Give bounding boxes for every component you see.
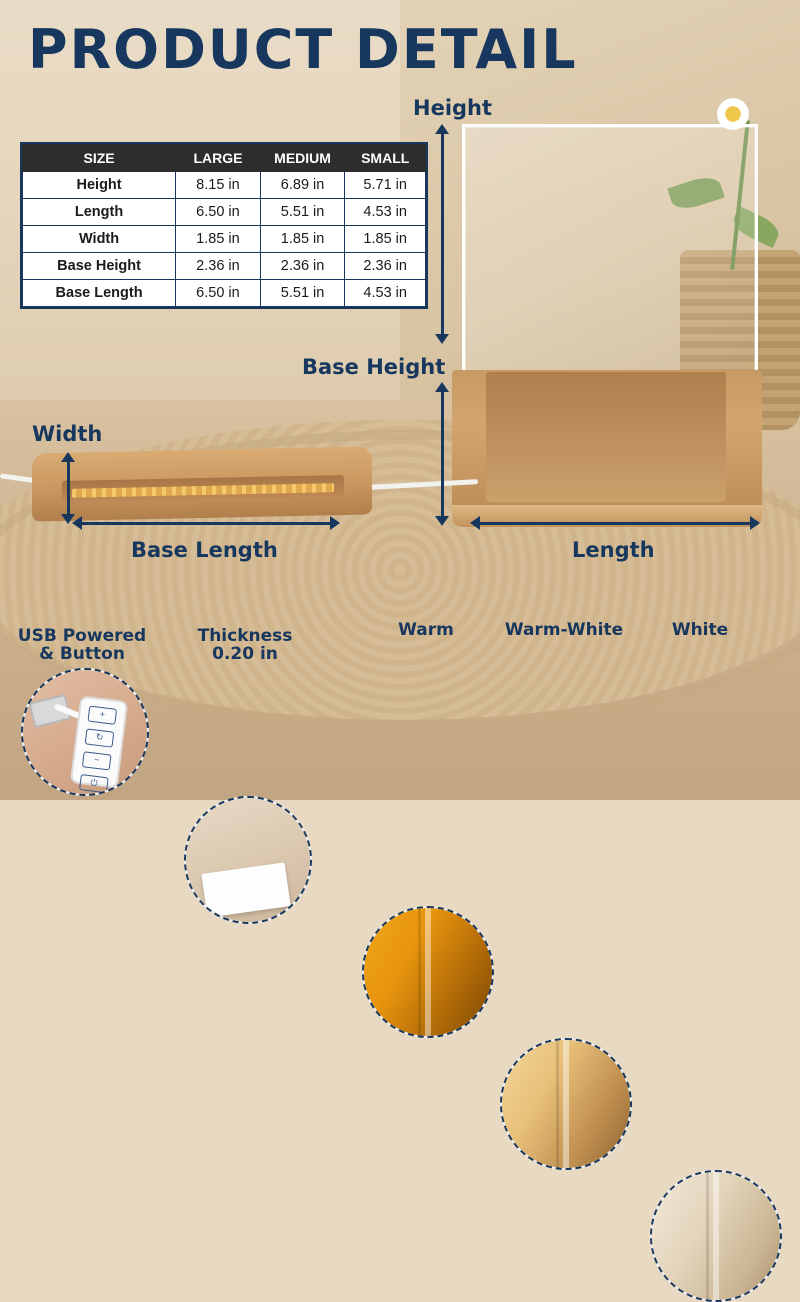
panel-edge-highlight <box>425 908 431 1036</box>
row-label: Base Height <box>23 253 176 280</box>
feature-warm-label: Warm <box>398 620 454 640</box>
dimension-label-length: Length <box>572 538 655 562</box>
arrow-head-right-icon <box>330 516 340 530</box>
arrow-line <box>478 522 752 525</box>
dimension-label-base-length: Base Length <box>131 538 278 562</box>
arrow-line <box>441 390 444 518</box>
table-row: Base Length 6.50 in 5.51 in 4.53 in <box>23 280 426 307</box>
feature-thickness-value: 0.20 in <box>212 644 278 664</box>
row-label: Width <box>23 226 176 253</box>
table-col-size: SIZE <box>23 145 176 172</box>
cell-small: 2.36 in <box>345 253 426 280</box>
table-row: Length 6.50 in 5.51 in 4.53 in <box>23 199 426 226</box>
thickness-photo-background <box>186 798 310 922</box>
wooden-stand-base-inner <box>486 372 726 502</box>
cell-large: 6.50 in <box>176 199 261 226</box>
cell-medium: 1.85 in <box>260 226 345 253</box>
feature-usb-powered: USB Powered & Button <box>14 628 150 664</box>
table-col-small: SMALL <box>345 145 426 172</box>
arrow-head-down-icon <box>435 334 449 344</box>
arrow-line <box>80 522 332 525</box>
feature-warm: Warm <box>362 622 490 640</box>
cell-large: 6.50 in <box>176 280 261 307</box>
dimension-arrow-height <box>431 124 453 344</box>
table-header-row: SIZE LARGE MEDIUM SMALL <box>23 145 426 172</box>
table-col-medium: MEDIUM <box>260 145 345 172</box>
dimension-label-base-height: Base Height <box>302 355 445 379</box>
cell-small: 5.71 in <box>345 172 426 199</box>
panel-edge-shadow <box>706 1172 709 1300</box>
cell-large: 8.15 in <box>176 172 261 199</box>
controller-button-minus: − <box>82 751 112 770</box>
feature-white: White <box>636 622 764 640</box>
cell-large: 2.36 in <box>176 253 261 280</box>
row-label: Height <box>23 172 176 199</box>
size-specification-table: SIZE LARGE MEDIUM SMALL Height 8.15 in 6… <box>20 142 428 309</box>
table-row: Width 1.85 in 1.85 in 1.85 in <box>23 226 426 253</box>
row-label: Base Length <box>23 280 176 307</box>
arrow-line <box>67 460 70 516</box>
cell-medium: 6.89 in <box>260 172 345 199</box>
cell-small: 4.53 in <box>345 199 426 226</box>
page-title: PRODUCT DETAIL <box>28 18 578 81</box>
cell-small: 1.85 in <box>345 226 426 253</box>
panel-edge-highlight <box>713 1172 719 1300</box>
controller-button-power: ⏻ <box>79 774 109 793</box>
dimension-arrow-base-height <box>431 382 453 526</box>
feature-warm-white-label: Warm-White <box>505 620 623 640</box>
feature-warm-white: Warm-White <box>492 622 636 640</box>
arrow-line <box>441 132 444 336</box>
feature-usb-image: + ↻ − ⏻ on/off <box>21 668 149 796</box>
arrow-head-right-icon <box>750 516 760 530</box>
feature-white-image <box>650 1170 782 1302</box>
dimension-label-width: Width <box>32 422 102 446</box>
feature-warm-white-image <box>500 1038 632 1170</box>
table-row: Base Height 2.36 in 2.36 in 2.36 in <box>23 253 426 280</box>
feature-white-label: White <box>672 620 728 640</box>
cell-large: 1.85 in <box>176 226 261 253</box>
feature-usb-label-line2: & Button <box>39 644 125 664</box>
cell-medium: 5.51 in <box>260 280 345 307</box>
arrow-head-down-icon <box>435 516 449 526</box>
feature-thickness-image <box>184 796 312 924</box>
feature-warm-image <box>362 906 494 1038</box>
table-col-large: LARGE <box>176 145 261 172</box>
dimension-arrow-length <box>470 512 760 534</box>
controller-button-plus: + <box>87 706 117 725</box>
panel-edge-highlight <box>563 1040 569 1168</box>
controller-button-cycle: ↻ <box>85 728 115 747</box>
row-label: Length <box>23 199 176 226</box>
table-row: Height 8.15 in 6.89 in 5.71 in <box>23 172 426 199</box>
cell-medium: 2.36 in <box>260 253 345 280</box>
cell-medium: 5.51 in <box>260 199 345 226</box>
dimension-arrow-base-length <box>72 512 340 534</box>
panel-edge-shadow <box>418 908 421 1036</box>
feature-thickness: Thickness 0.20 in <box>182 628 308 664</box>
panel-edge-shadow <box>556 1040 559 1168</box>
cell-small: 4.53 in <box>345 280 426 307</box>
dimension-label-height: Height <box>413 96 492 120</box>
